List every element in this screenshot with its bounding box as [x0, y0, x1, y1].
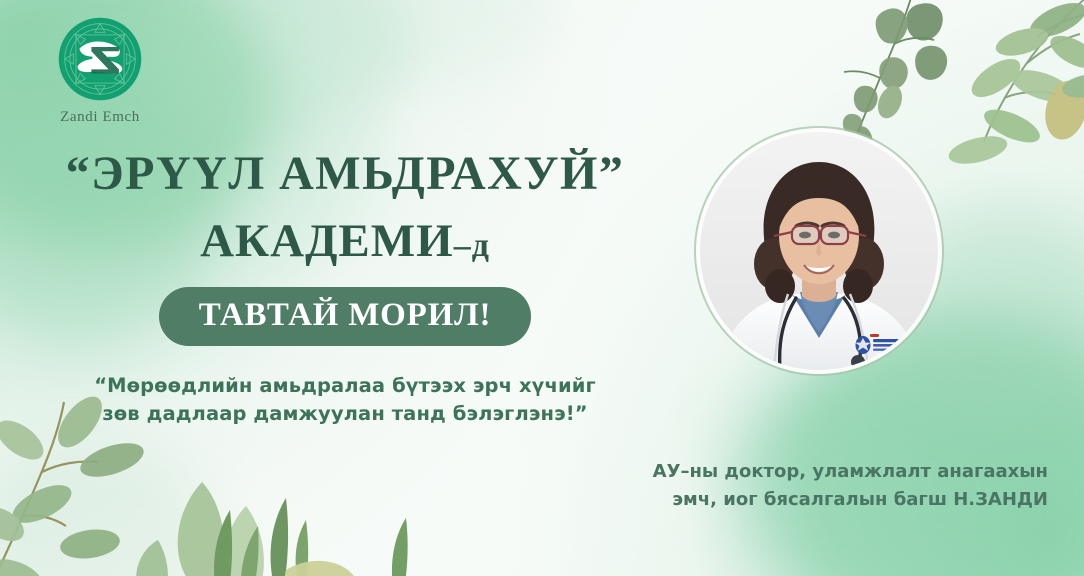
brand-name: Zandi Emch	[38, 109, 162, 126]
tagline-line-2: зөв дадлаар дамжуулан танд бэлэглэнэ!”	[0, 400, 690, 428]
headline-line-2-suffix: –д	[454, 227, 490, 264]
welcome-badge[interactable]: ТАВТАЙ МОРИЛ!	[159, 287, 532, 346]
tagline-quote: “Мөрөөдлийн амьдралаа бүтээх эрч хүчийг …	[0, 372, 690, 429]
headline-line-1: “ЭРҮҮЛ АМЬДРАХУЙ”	[0, 150, 690, 198]
credentials-line-2: эмч, иог бясалгалын багш Н.ЗАНДИ	[618, 486, 1048, 514]
credentials-block: АУ–ны доктор, уламжлалт анагаахын эмч, и…	[618, 458, 1048, 514]
welcome-badge-row: ТАВТАЙ МОРИЛ!	[0, 287, 690, 346]
zandi-mandala-logo-icon	[57, 16, 143, 102]
promo-banner: Zandi Emch “ЭРҮҮЛ АМЬДРАХУЙ” АКАДЕМИ–д Т…	[0, 0, 1084, 576]
brand-logo[interactable]: Zandi Emch	[38, 16, 162, 126]
headline-block: “ЭРҮҮЛ АМЬДРАХУЙ” АКАДЕМИ–д ТАВТАЙ МОРИЛ…	[0, 150, 690, 428]
doctor-portrait	[700, 132, 938, 370]
tagline-line-1: “Мөрөөдлийн амьдралаа бүтээх эрч хүчийг	[0, 372, 690, 400]
doctor-portrait-image	[700, 132, 938, 370]
credentials-line-1: АУ–ны доктор, уламжлалт анагаахын	[618, 458, 1048, 486]
headline-line-2-main: АКАДЕМИ	[200, 215, 454, 267]
headline-line-2: АКАДЕМИ–д	[0, 218, 690, 265]
